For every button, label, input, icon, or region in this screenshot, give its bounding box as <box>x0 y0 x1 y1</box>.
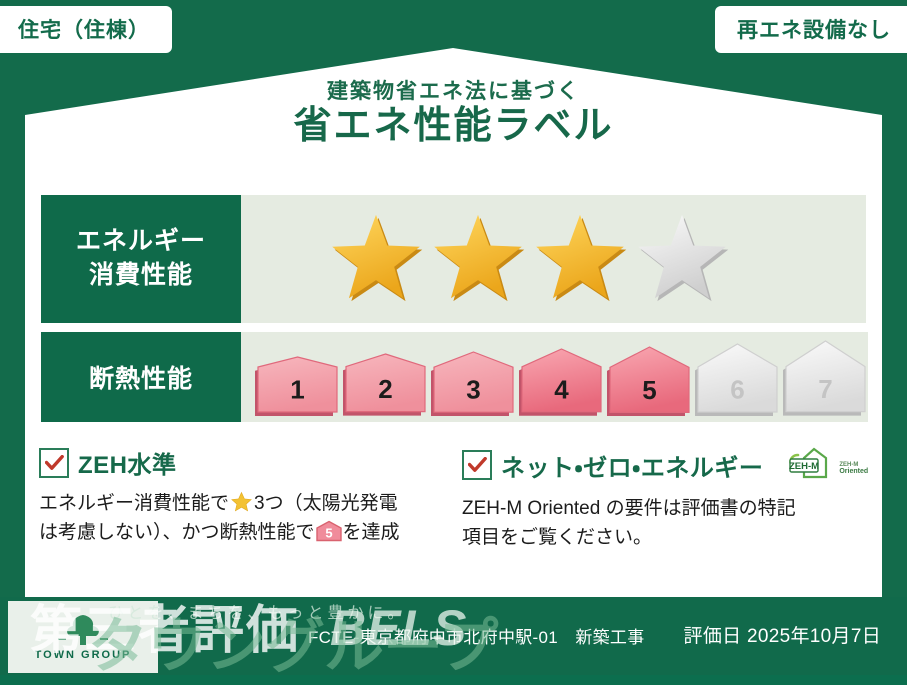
title-block: 建築物省エネ法に基づく 省エネ性能ラベル <box>0 80 907 147</box>
net-zero-description: ZEH-M Oriented の要件は評価書の特記 項目をご覧ください。 <box>462 494 872 553</box>
tree-icon <box>54 613 112 647</box>
net-zero-heading: ネット・ゼロ・エネルギー ZEH-M ZEH-M Oriented <box>462 445 872 485</box>
zeh-standard-description: エネルギー消費性能で3つ（太陽光発電 は考慮しない）、かつ断熱性能で5を達成 <box>39 489 447 548</box>
renewable-status-tab: 再エネ設備なし <box>715 6 907 53</box>
star-filled-icon <box>327 210 425 308</box>
insulation-grade-scale: 1234567 <box>241 332 868 422</box>
net-zero-desc-line-1: ZEH-M Oriented の要件は評価書の特記 <box>462 494 872 523</box>
project-name: FCTE-東京都府中市北府中駅-01 新築工事 <box>308 623 645 648</box>
star-filled-icon <box>531 210 629 308</box>
svg-text:5: 5 <box>325 526 332 541</box>
label-title: 省エネ性能ラベル <box>0 107 907 147</box>
insulation-grade-value: 3 <box>466 375 480 405</box>
town-group-logo: TOWN GROUP <box>8 601 158 673</box>
insulation-performance-label: 断熱性能 <box>41 332 241 422</box>
star-rating <box>241 195 866 323</box>
check-icon <box>45 455 64 471</box>
evaluation-date: 評価日 2025年10月7日 <box>684 621 881 648</box>
insulation-grade-value: 6 <box>730 375 744 405</box>
insulation-grade-house-active: 4 <box>519 346 604 416</box>
label-footer: TOWN GROUP FCTE-東京都府中市北府中駅-01 新築工事 評価日 2… <box>0 597 907 675</box>
insulation-grade-value: 1 <box>290 375 304 405</box>
zeh-desc-part-3: は考慮しない）、かつ断熱性能で <box>39 522 315 543</box>
insulation-grade-value: 4 <box>554 375 569 405</box>
insulation-grade-badge-icon: 5 <box>316 520 342 542</box>
zeh-standard-heading: ZEH水準 <box>39 445 447 480</box>
zeh-m-logo-sublabel: ZEH-M Oriented <box>839 462 868 476</box>
insulation-grade-house-active: 3 <box>431 349 516 416</box>
town-group-logo-label: TOWN GROUP <box>35 649 132 661</box>
star-empty-icon <box>633 210 731 308</box>
insulation-grade-house-active: 2 <box>343 351 428 416</box>
insulation-grade-house-inactive: 7 <box>783 338 868 416</box>
label-body: エネルギー 消費性能 断熱性能 1234567 ZEH水準 <box>25 160 882 597</box>
net-zero-energy-section: ネット・ゼロ・エネルギー ZEH-M ZEH-M Oriented ZEH-M … <box>462 445 872 553</box>
energy-label-card: 住宅（住棟） 再エネ設備なし 建築物省エネ法に基づく 省エネ性能ラベル エネルギ… <box>0 0 907 675</box>
insulation-grade-value: 7 <box>818 375 832 405</box>
insulation-grade-house-active: 1 <box>255 354 340 416</box>
zeh-desc-part-1: エネルギー消費性能で <box>39 493 229 514</box>
energy-label-line-2: 消費性能 <box>89 259 193 293</box>
label-subtitle: 建築物省エネ法に基づく <box>0 80 907 103</box>
insulation-grade-value: 2 <box>378 375 392 405</box>
star-filled-icon <box>429 210 527 308</box>
net-zero-desc-line-2: 項目をご覧ください。 <box>462 523 872 552</box>
energy-performance-row: エネルギー 消費性能 <box>41 195 866 323</box>
building-type-label: 住宅（住棟） <box>18 19 150 42</box>
svg-text:ZEH-M: ZEH-M <box>789 461 819 472</box>
insulation-grade-house-active: 5 <box>607 344 692 416</box>
insulation-grade-value: 5 <box>642 375 656 405</box>
insulation-performance-row: 断熱性能 1234567 <box>41 332 866 422</box>
building-type-tab: 住宅（住棟） <box>0 6 172 53</box>
energy-performance-label: エネルギー 消費性能 <box>41 195 241 323</box>
energy-label-line-1: エネルギー <box>76 225 206 259</box>
star-icon <box>230 491 253 513</box>
insulation-label-text: 断熱性能 <box>89 359 193 395</box>
zeh-standard-checkbox[interactable] <box>39 448 69 478</box>
insulation-grade-house-inactive: 6 <box>695 341 780 416</box>
net-zero-title: ネット・ゼロ・エネルギー <box>501 448 763 483</box>
zeh-m-logo-icon: ZEH-M <box>774 445 832 485</box>
check-icon <box>468 457 487 473</box>
zeh-desc-part-4: を達成 <box>343 522 400 543</box>
renewable-status-label: 再エネ設備なし <box>737 19 891 42</box>
zeh-standard-title: ZEH水準 <box>78 445 177 480</box>
net-zero-checkbox[interactable] <box>462 450 492 480</box>
zeh-m-sub-line-2: Oriented <box>839 468 868 475</box>
zeh-desc-part-2: 3つ（太陽光発電 <box>254 493 398 514</box>
zeh-standard-section: ZEH水準 エネルギー消費性能で3つ（太陽光発電 は考慮しない）、かつ断熱性能で… <box>39 445 447 548</box>
